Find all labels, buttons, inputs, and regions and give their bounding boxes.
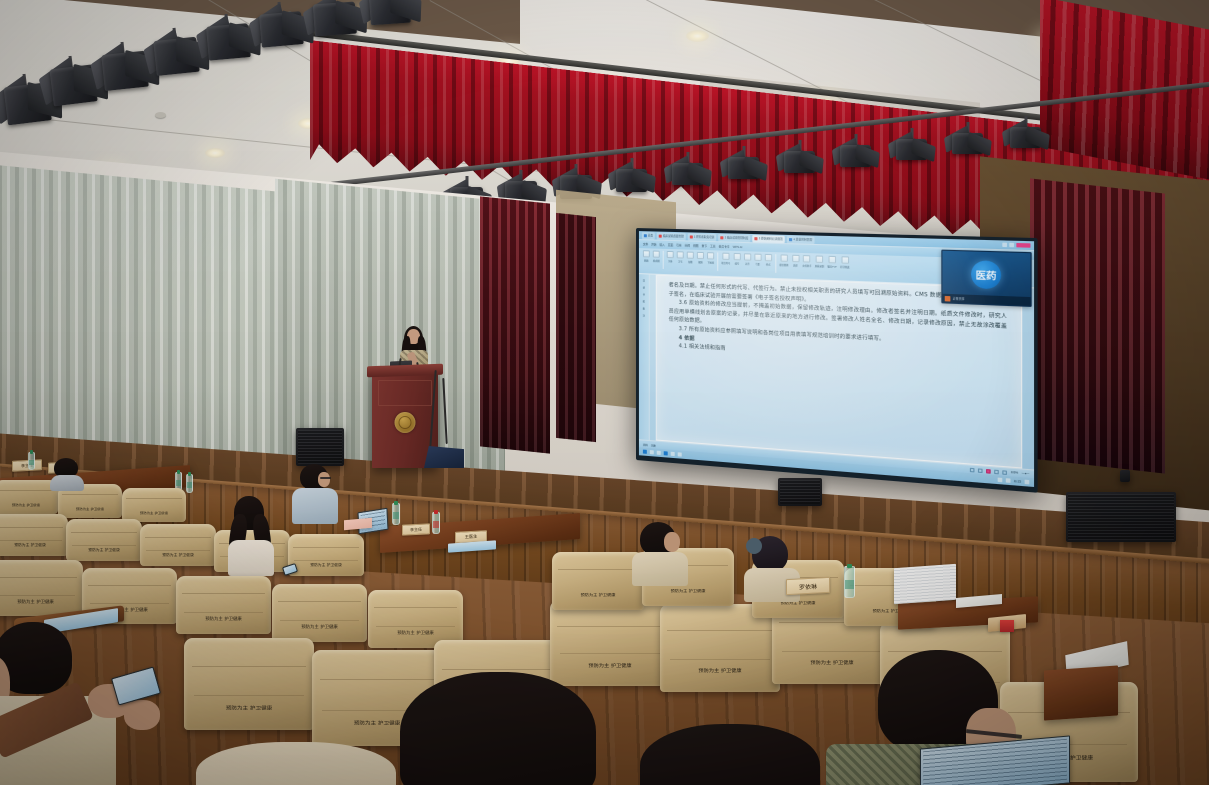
seat-cover-text: 预防为主 护卫健康 — [176, 617, 271, 622]
nav-label[interactable]: 批 — [643, 306, 645, 310]
ribbon-button-format-painter[interactable]: 格式刷 — [653, 251, 660, 263]
auditorium-seat: 预防为主 护卫健康 — [272, 584, 367, 642]
tab-label: 2 临床试验管理制度 — [725, 235, 749, 240]
ribbon-button-find-replace[interactable]: 查找替换 — [779, 254, 788, 267]
hand — [124, 700, 160, 730]
italic-icon — [697, 252, 704, 259]
print-preview-icon — [841, 256, 849, 264]
ribbon-label: 屏幕录制 — [815, 264, 824, 268]
screen-content[interactable]: 首页 临床试验质量管理 1 研究者职责培训 2 临床试验管理制度 3 原始资料记… — [639, 231, 1034, 487]
nav-label[interactable]: 注 — [643, 313, 645, 317]
bold-icon — [687, 252, 694, 259]
podium-top — [367, 364, 443, 378]
seat-cover-text: 预防为主 护卫健康 — [122, 511, 186, 515]
ribbon-button-doc-assistant[interactable]: 文档助手 — [802, 255, 811, 268]
select-icon — [792, 255, 799, 263]
audience-member-foreground — [640, 724, 820, 785]
ribbon-button-font[interactable]: 字体 — [667, 251, 674, 263]
name-card: 李主任 — [402, 523, 430, 535]
bullet-list-icon — [722, 253, 729, 260]
tab-label: 4 质量控制管理 — [793, 237, 812, 242]
ribbon-label: 样式 — [766, 262, 771, 266]
tab-item[interactable]: 首页 — [642, 232, 655, 239]
seat-cover-text: 预防为主 护卫健康 — [58, 507, 122, 511]
stage-light — [312, 0, 358, 45]
ribbon-label: 字号 — [678, 259, 682, 263]
ribbon-button-bullets[interactable]: 项目符号 — [721, 253, 730, 266]
tab-item[interactable]: 2 临床试验管理制度 — [719, 234, 751, 242]
water-bottle — [392, 503, 400, 525]
auditorium-seat: 预防为主 护卫健康 — [66, 519, 142, 561]
styles-icon — [765, 254, 772, 261]
ribbon-label: 格式刷 — [653, 259, 660, 263]
ribbon-label: 文档助手 — [802, 263, 811, 267]
ribbon-label: 对齐 — [745, 262, 750, 266]
water-bottle — [28, 452, 35, 470]
ribbon-button-styles[interactable]: 样式 — [765, 254, 772, 267]
menu-item-member[interactable]: 会员专享 — [719, 244, 730, 248]
stage-light — [728, 146, 759, 182]
ribbon-button-line-spacing[interactable]: 行距 — [754, 254, 761, 267]
view-mode-outline-icon[interactable] — [994, 469, 999, 474]
ribbon-label: 打印预览 — [840, 265, 850, 270]
ribbon-label: 查找替换 — [779, 263, 788, 267]
stage-light — [368, 0, 411, 33]
ribbon-label: 字体 — [668, 259, 672, 263]
menu-item-review[interactable]: 审阅 — [685, 243, 690, 247]
font-size-icon — [677, 251, 684, 258]
numbered-list-icon — [733, 253, 740, 260]
maximize-icon[interactable] — [1009, 243, 1014, 247]
status-word-count-label: 字数 — [651, 443, 656, 447]
nav-label[interactable]: 目 — [643, 278, 645, 282]
water-bottle — [844, 566, 855, 598]
pa-speaker-left — [296, 428, 344, 466]
audience-member — [52, 458, 82, 486]
paste-icon — [643, 250, 650, 257]
underline-icon — [707, 252, 714, 259]
notifications-icon[interactable] — [1025, 480, 1030, 485]
screen-record-icon — [816, 255, 824, 263]
audience-member-foreground — [196, 742, 396, 785]
menu-item-section[interactable]: 章节 — [702, 244, 707, 248]
ribbon-divider — [717, 252, 718, 270]
pa-speaker-center — [778, 478, 822, 506]
nav-label[interactable]: 书 — [643, 292, 645, 296]
seat-cover-text: 预防为主 护卫健康 — [368, 631, 463, 636]
ribbon-button-bold[interactable]: 加粗 — [687, 252, 694, 264]
menu-item-view[interactable]: 视图 — [693, 244, 698, 248]
speaker-stand — [1120, 470, 1130, 482]
menu-item-reference[interactable]: 引用 — [676, 243, 681, 247]
stage-light — [672, 152, 703, 188]
tab-item[interactable]: 临床试验质量管理 — [657, 232, 686, 240]
stage-light — [205, 12, 252, 70]
stage-light — [100, 40, 150, 102]
auditorium-seat: 预防为主 护卫健康 — [552, 552, 644, 610]
video-window-status: 正在共享 — [953, 296, 965, 301]
tab-icon — [644, 234, 647, 237]
view-mode-web-icon[interactable] — [970, 467, 975, 472]
seat-cover-text: 预防为主 护卫健康 — [0, 542, 68, 547]
audience-member — [636, 522, 684, 574]
stage-light — [840, 134, 871, 169]
seat-cover-text: 预防为主 护卫健康 — [642, 589, 734, 594]
dark-red-curtain-left — [480, 196, 550, 453]
seat-cover-text: 预防为主 护卫健康 — [660, 668, 780, 674]
search-icon[interactable] — [650, 450, 654, 454]
auditorium-seat: 预防为主 护卫健康 — [0, 560, 83, 616]
auditorium-seat: 预防为主 护卫健康 — [288, 534, 364, 576]
tab-label: 临床试验质量管理 — [663, 234, 684, 239]
ceiling-downlight — [205, 148, 225, 158]
wps-icon[interactable] — [678, 452, 682, 456]
menu-item-insert[interactable]: 插入 — [659, 243, 664, 247]
ribbon-button-paste[interactable]: 粘贴 — [643, 250, 650, 262]
ribbon-button-select[interactable]: 选择 — [792, 255, 799, 268]
stage-monitor-wedge — [424, 446, 464, 468]
tab-item[interactable]: 1 研究者职责培训 — [688, 233, 717, 241]
dark-red-curtain-center — [556, 213, 596, 442]
seat-cover-text: 预防为主 护卫健康 — [140, 552, 216, 557]
status-page-label: 页码 — [643, 442, 648, 446]
menu-item-page[interactable]: 页面 — [668, 243, 673, 247]
auditorium-seat: 预防为主 护卫健康 — [184, 638, 314, 730]
menu-item-tools[interactable]: 工具 — [710, 244, 715, 248]
stage-light — [258, 0, 305, 57]
document-stack — [894, 564, 956, 604]
seat-cover-text: 预防为主 护卫健康 — [0, 503, 58, 507]
dark-red-curtain-right — [1030, 178, 1165, 473]
institution-emblem-icon — [395, 412, 416, 433]
upgrade-button[interactable] — [1016, 243, 1030, 248]
minimize-icon[interactable] — [1002, 243, 1007, 247]
conference-logo: 医药 — [971, 260, 1001, 289]
view-mode-print-icon[interactable] — [978, 468, 983, 473]
ribbon-label: 下划线 — [707, 260, 714, 264]
menu-item-file[interactable]: 文件 — [643, 242, 648, 246]
red-booklet — [1000, 620, 1014, 632]
seat-cover-text: 预防为主 护卫健康 — [184, 704, 314, 711]
tab-label: 3 原始资料记录规范 — [759, 236, 783, 241]
podium-front-panel — [378, 380, 432, 406]
browser-icon[interactable] — [664, 451, 668, 455]
tab-icon — [789, 238, 792, 241]
water-bottle — [432, 512, 440, 534]
doc-assistant-icon — [803, 255, 810, 263]
nav-label[interactable]: 签 — [643, 299, 645, 303]
water-bottle — [186, 474, 193, 493]
stage-light — [784, 140, 815, 175]
taskbar-clock[interactable]: 11:23 — [1014, 479, 1021, 483]
auditorium-seat: 预防为主 护卫健康 — [0, 514, 68, 556]
auditorium-seat: 预防为主 护卫健康 — [140, 524, 216, 566]
explorer-icon[interactable] — [671, 452, 675, 456]
stage-light — [952, 122, 983, 156]
ribbon-divider — [775, 254, 776, 273]
ribbon-button-font-size[interactable]: 字号 — [677, 251, 684, 263]
ribbon-label: 输出PDF — [827, 264, 836, 269]
find-replace-icon — [780, 254, 787, 261]
ribbon-button-numbering[interactable]: 编号 — [733, 253, 740, 266]
stage-light — [152, 26, 201, 86]
ceiling-downlight — [686, 30, 709, 42]
ribbon-button-underline[interactable]: 下划线 — [707, 252, 714, 264]
ribbon-label: 加粗 — [688, 260, 692, 264]
name-card: 罗依琳 — [786, 577, 830, 595]
ribbon-label: 行距 — [755, 262, 760, 266]
pa-speaker-right — [1066, 492, 1176, 542]
tab-icon — [755, 237, 758, 240]
tab-icon — [659, 234, 662, 237]
seat-cover-text: 预防为主 护卫健康 — [550, 662, 670, 668]
font-icon — [667, 251, 674, 258]
seat-cover-text: 预防为主 护卫健康 — [0, 599, 83, 604]
ribbon-label: 倾斜 — [698, 260, 702, 264]
ribbon-button-italic[interactable]: 倾斜 — [697, 252, 704, 264]
name-card: 李主任 — [12, 459, 42, 472]
menu-item-wps-ai[interactable]: WPS AI — [733, 245, 743, 248]
task-view-icon[interactable] — [657, 451, 661, 455]
stage-light — [1010, 116, 1041, 150]
smoke-detector-icon — [155, 112, 166, 118]
audience-member-foreground-center — [400, 672, 600, 785]
zoom-level[interactable]: 100% — [1011, 471, 1019, 475]
export-pdf-icon — [828, 256, 836, 264]
seat-cover-text: 预防为主 护卫健康 — [288, 562, 364, 567]
tab-item-active[interactable]: 3 原始资料记录规范 — [752, 235, 784, 243]
seat-cover-text: 预防为主 护卫健康 — [66, 547, 142, 552]
volume-icon[interactable] — [1005, 478, 1010, 483]
auditorium-seat: 预防为主 护卫健康 — [176, 576, 271, 634]
ribbon-label: 项目符号 — [721, 261, 730, 265]
side-desk — [1044, 665, 1118, 720]
ribbon-label: 编号 — [735, 261, 740, 265]
audience-member — [228, 496, 272, 566]
view-mode-full-icon[interactable] — [1002, 470, 1007, 475]
navigation-pane[interactable]: 目 录 书 签 批 注 — [639, 274, 650, 440]
view-mode-reading-icon[interactable] — [986, 468, 991, 473]
tab-label: 首页 — [648, 233, 653, 237]
stage-light — [896, 128, 927, 162]
ribbon-divider — [663, 251, 664, 269]
menu-item-home[interactable]: 开始 — [651, 242, 656, 246]
stage-light — [616, 158, 647, 195]
ribbon-label: 粘贴 — [644, 258, 648, 262]
align-icon — [744, 253, 751, 260]
tab-label: 1 研究者职责培训 — [694, 235, 715, 240]
ribbon-button-align[interactable]: 对齐 — [744, 253, 751, 266]
tab-icon — [721, 236, 724, 239]
projection-screen[interactable]: 首页 临床试验质量管理 1 研究者职责培训 2 临床试验管理制度 3 原始资料记… — [636, 228, 1038, 493]
participant-avatar — [945, 295, 951, 301]
ribbon-button-export-pdf[interactable]: 输出PDF — [827, 256, 836, 269]
audience-member — [294, 464, 336, 522]
tab-icon — [690, 235, 693, 238]
ribbon-button-screen-record[interactable]: 屏幕录制 — [815, 255, 824, 268]
zoom-slider[interactable]: —●— — [1022, 472, 1030, 476]
format-painter-icon — [653, 251, 660, 258]
seat-cover-text: 预防为主 护卫健康 — [272, 625, 367, 630]
tab-item[interactable]: 4 质量控制管理 — [787, 235, 814, 243]
ribbon-label: 选择 — [793, 263, 798, 267]
conference-hall-photo: 首页 临床试验质量管理 1 研究者职责培训 2 临床试验管理制度 3 原始资料记… — [0, 0, 1209, 785]
video-conference-window[interactable]: 医药 正在共享 — [941, 250, 1031, 307]
network-icon[interactable] — [997, 478, 1002, 483]
start-icon[interactable] — [643, 450, 647, 454]
ribbon-button-print-preview[interactable]: 打印预览 — [840, 256, 850, 269]
auditorium-seat: 预防为主 护卫健康 — [122, 488, 186, 522]
tab-bar-spacer — [817, 240, 1000, 245]
nav-label[interactable]: 录 — [643, 285, 645, 289]
line-spacing-icon — [754, 254, 761, 261]
seat-cover-text: 预防为主 护卫健康 — [552, 593, 644, 598]
